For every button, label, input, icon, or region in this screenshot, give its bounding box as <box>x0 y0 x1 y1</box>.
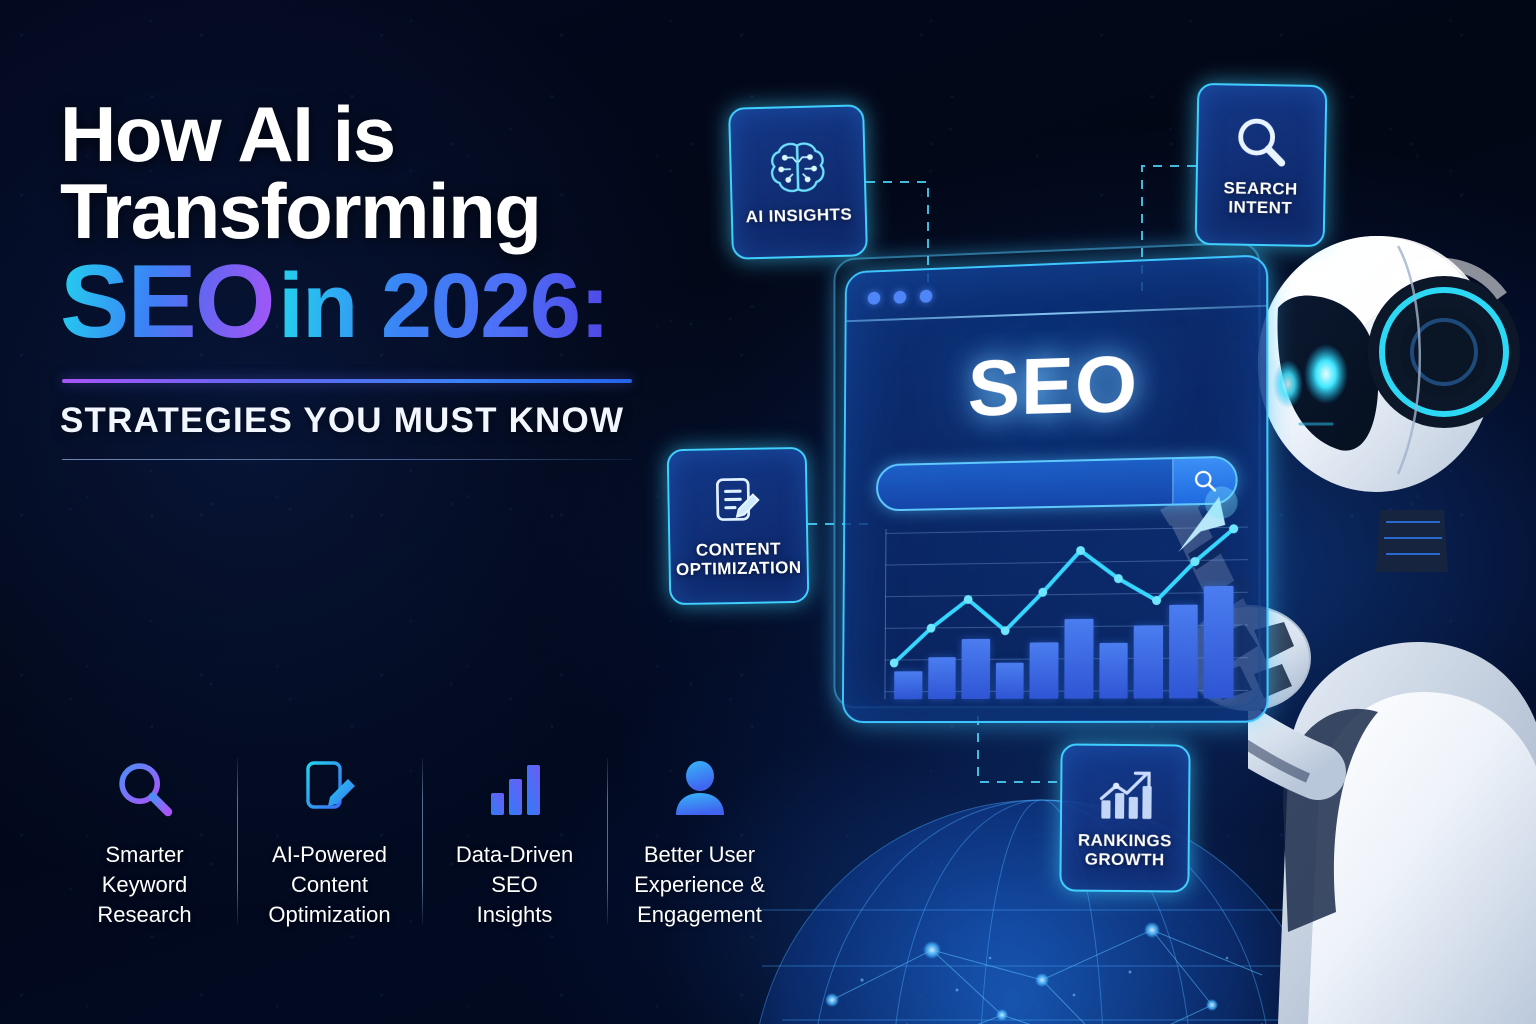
infographic-canvas: SEO <box>0 0 1536 1024</box>
panel-title: SEO <box>846 333 1267 437</box>
titlebar-divider <box>847 305 1267 322</box>
chart-point <box>927 624 936 633</box>
chart-point <box>890 659 899 668</box>
window-dot <box>868 292 881 305</box>
divider-top <box>62 379 632 383</box>
bar-chart-icon <box>483 752 547 826</box>
magnifier-icon <box>113 752 177 826</box>
headline-line-1: How AI is <box>60 96 680 173</box>
window-dot <box>894 291 907 304</box>
document-pencil-icon <box>298 752 362 826</box>
headline-block: How AI is Transforming SEO in 2026: STRA… <box>60 96 680 460</box>
growth-chart-icon <box>1094 767 1156 824</box>
feature-label: Smarter Keyword Research <box>97 840 191 930</box>
seo-browser-panel[interactable]: SEO <box>842 254 1269 723</box>
network-globe <box>742 790 1362 1024</box>
user-icon <box>670 752 730 826</box>
headline-line-2: Transforming <box>60 173 680 250</box>
glowing-arrow-cursor <box>1160 478 1252 571</box>
brain-circuit-icon <box>766 138 830 200</box>
headline-accent-year: in 2026: <box>278 257 609 356</box>
badge-ai-insights[interactable]: AI INSIGHTS <box>728 104 868 260</box>
feature-label: Data-Driven SEO Insights <box>456 840 573 930</box>
magnifier-icon <box>1232 112 1291 171</box>
document-pencil-icon <box>708 473 767 532</box>
badge-search-intent[interactable]: SEARCH INTENT <box>1195 83 1328 247</box>
feature-label: AI-Powered Content Optimization <box>268 840 390 930</box>
window-dots <box>868 290 933 305</box>
badge-label: CONTENT OPTIMIZATION <box>676 539 802 579</box>
window-dot <box>920 290 933 303</box>
badge-rankings-growth[interactable]: RANKINGS GROWTH <box>1059 743 1190 892</box>
badge-content-optimization[interactable]: CONTENT OPTIMIZATION <box>667 447 810 605</box>
feature-row: Smarter Keyword Research AI-Powered Cont… <box>52 752 792 930</box>
feature-data-driven-seo-insights[interactable]: Data-Driven SEO Insights <box>422 752 607 930</box>
analytics-chart <box>873 522 1248 703</box>
badge-label: SEARCH INTENT <box>1223 178 1298 217</box>
subheadline: STRATEGIES YOU MUST KNOW <box>60 401 680 441</box>
feature-smarter-keyword-research[interactable]: Smarter Keyword Research <box>52 752 237 930</box>
divider-bottom <box>62 459 632 460</box>
feature-better-user-experience[interactable]: Better User Experience & Engagement <box>607 752 792 930</box>
badge-label: RANKINGS GROWTH <box>1078 831 1172 870</box>
headline-accent-seo: SEO <box>60 250 274 354</box>
badge-label: AI INSIGHTS <box>745 205 852 227</box>
chart-point <box>1038 588 1047 597</box>
feature-ai-powered-content-optimization[interactable]: AI-Powered Content Optimization <box>237 752 422 930</box>
connector-rankings-growth <box>978 716 1060 782</box>
feature-label: Better User Experience & Engagement <box>634 840 765 930</box>
